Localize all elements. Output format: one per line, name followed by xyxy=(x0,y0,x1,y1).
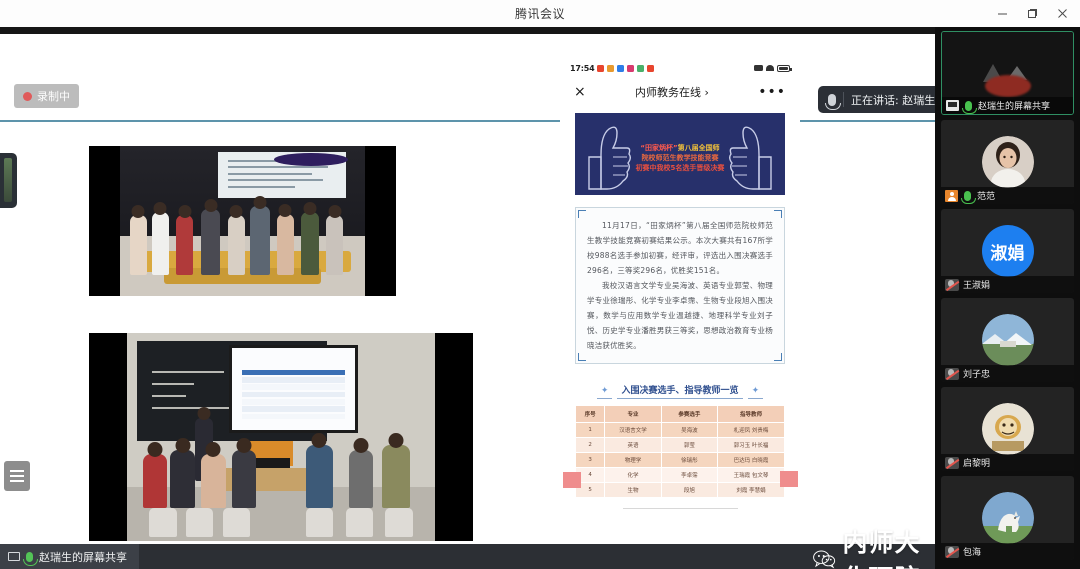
participant-name: 赵瑞生的屏幕共享 xyxy=(978,99,1050,112)
row-highlight-bar-left xyxy=(563,472,581,488)
article-banner: “田家炳杯”第八届全国师 院校师范生教学技能竞赛 初赛中我校5名选手晋级决赛 xyxy=(575,113,785,195)
row-highlight-bar-right xyxy=(780,471,798,487)
wechat-account-title[interactable]: 内师教务在线 › xyxy=(586,84,758,100)
cell-major: 汉语言文学 xyxy=(605,423,661,438)
screen-share-icon xyxy=(946,100,959,111)
phone-status-bar: 17:54 xyxy=(560,59,800,77)
cell-major: 化学 xyxy=(605,468,661,483)
bottom-share-bar: 赵瑞生的屏幕共享 xyxy=(0,544,935,569)
tile-footer: 包海 xyxy=(941,543,1074,560)
banner-line1: 第八届全国师 xyxy=(678,144,720,152)
tile-footer: 王淑娟 xyxy=(941,276,1074,293)
stage-divider-left xyxy=(0,120,560,122)
signal-icon xyxy=(754,65,763,71)
list-menu-icon[interactable] xyxy=(4,461,30,491)
cell-teachers: 王瑞霞 包文琴 xyxy=(718,468,785,483)
sparkle-icon-left: ✦ xyxy=(597,386,613,399)
slide-photo-classroom-group xyxy=(89,146,396,296)
table-header-row: 序号 专业 参赛选手 指导教师 xyxy=(576,406,785,423)
phone-screen-mirror: 17:54 × 内师教务在线 › ••• xyxy=(560,59,800,569)
tile-footer: 刘子忠 xyxy=(941,365,1074,382)
banner-line3: 初赛中我校5名选手晋级决赛 xyxy=(615,163,745,173)
cell-no: 1 xyxy=(576,423,605,438)
title-bar: 腾讯会议 xyxy=(0,0,1080,27)
participant-name: 包海 xyxy=(963,545,981,558)
participant-name: 王淑娟 xyxy=(963,278,990,291)
red-blob xyxy=(985,75,1031,97)
shared-screen-stage: 录制中 xyxy=(0,27,935,569)
wifi-icon xyxy=(766,65,774,71)
participant-tile-wangshujuan[interactable]: 淑娟 王淑娟 xyxy=(941,209,1074,293)
avatar xyxy=(982,403,1034,455)
th-student: 参赛选手 xyxy=(661,406,717,423)
article-paragraph-1: 11月17日，“田家炳杯”第八届全国师范院校师范生教学技能竞赛初赛结果公示。本次… xyxy=(587,218,773,278)
cell-student: 段旭 xyxy=(661,483,717,498)
finalists-table-body: 序号 专业 参赛选手 指导教师 1 汉语言文学 吴海波 札迎凤 刘贵梅 2 英语 xyxy=(576,406,785,498)
table-bottom-rule xyxy=(623,508,738,509)
microphone-icon xyxy=(828,94,836,106)
avatar xyxy=(982,492,1034,544)
share-status-pill: 赵瑞生的屏幕共享 xyxy=(0,544,139,569)
th-no: 序号 xyxy=(576,406,605,423)
status-app-icon-5 xyxy=(637,65,644,72)
cell-student: 郭莹 xyxy=(661,438,717,453)
microphone-muted-icon xyxy=(945,546,959,558)
corner-mark-tl xyxy=(578,210,586,218)
banner-line2: 院校师范生教学技能竞赛 xyxy=(615,153,745,163)
microphone-icon xyxy=(965,101,972,111)
microphone-muted-icon xyxy=(945,368,959,380)
participants-rail[interactable]: 赵瑞生的屏幕共享 xyxy=(935,27,1080,569)
status-time: 17:54 xyxy=(570,64,594,73)
cell-teachers: 札迎凤 刘贵梅 xyxy=(718,423,785,438)
table-row: 5 生物 段旭 刘霞 李慧娟 xyxy=(576,483,785,498)
participant-name: 启黎明 xyxy=(963,456,990,469)
cell-no: 4 xyxy=(576,468,605,483)
wechat-article-nav: × 内师教务在线 › ••• xyxy=(560,77,800,107)
cell-teachers: 刘霞 李慧娟 xyxy=(718,483,785,498)
tile-footer: 范范 xyxy=(941,187,1074,204)
cell-student: 李卓霈 xyxy=(661,468,717,483)
cell-no: 3 xyxy=(576,453,605,468)
corner-mark-bl xyxy=(578,353,586,361)
cell-major: 生物 xyxy=(605,483,661,498)
microphone-icon xyxy=(26,552,33,562)
status-app-icon-3 xyxy=(617,65,624,72)
divider xyxy=(843,92,844,107)
active-speaker-pill: 正在讲话: 赵瑞生; xyxy=(818,86,935,113)
th-teacher: 指导教师 xyxy=(718,406,785,423)
tencent-meeting-window: 腾讯会议 录制中 xyxy=(0,0,1080,569)
avatar-initial: 淑娟 xyxy=(982,225,1034,277)
cell-teachers: 巴达玛 白晓霞 xyxy=(718,453,785,468)
participant-tile-screen-share[interactable]: 赵瑞生的屏幕共享 xyxy=(941,31,1074,115)
microphone-muted-icon xyxy=(945,457,959,469)
avatar xyxy=(982,136,1034,188)
stage-divider-right xyxy=(800,120,935,122)
table-row: 2 英语 郭莹 郭习玉 叶长福 xyxy=(576,438,785,453)
wechat-logo-icon xyxy=(813,544,836,569)
status-app-icon-1 xyxy=(597,65,604,72)
sparkle-icon-right: ✦ xyxy=(748,386,764,399)
close-icon[interactable] xyxy=(1048,2,1076,26)
finalists-table: 序号 专业 参赛选手 指导教师 1 汉语言文学 吴海波 札迎凤 刘贵梅 2 英语 xyxy=(575,405,785,498)
cell-student: 吴海波 xyxy=(661,423,717,438)
table-row: 3 物理学 徐瑞彤 巴达玛 白晓霞 xyxy=(576,453,785,468)
participant-name: 刘子忠 xyxy=(963,367,990,380)
corner-mark-tr xyxy=(774,210,782,218)
window-controls xyxy=(988,0,1076,27)
table-row-highlighted: 4 化学 李卓霈 王瑞霞 包文琴 xyxy=(576,468,785,483)
more-icon[interactable]: ••• xyxy=(758,85,786,99)
cell-major: 英语 xyxy=(605,438,661,453)
maximize-icon[interactable] xyxy=(1018,2,1046,26)
cell-no: 2 xyxy=(576,438,605,453)
table-title: 入围决赛选手、指导教师一览 xyxy=(617,386,742,399)
participant-tile-baohai[interactable]: 包海 xyxy=(941,476,1074,560)
minimize-icon[interactable] xyxy=(988,2,1016,26)
banner-line1-quote: “田家炳杯” xyxy=(640,144,677,152)
battery-icon xyxy=(777,65,790,72)
microphone-muted-icon xyxy=(945,279,959,291)
left-edge-chip xyxy=(0,153,17,208)
participant-tile-liuzizhong[interactable]: 刘子忠 xyxy=(941,298,1074,382)
slide-photo-classroom-lecture xyxy=(89,333,473,541)
participant-name: 范范 xyxy=(977,189,995,202)
close-icon[interactable]: × xyxy=(574,85,586,99)
host-badge-icon xyxy=(945,190,958,202)
article-paragraph-2: 我校汉语言文学专业吴海波、英语专业郭莹、物理学专业徐瑞彤、化学专业李卓霈、生物专… xyxy=(587,278,773,353)
microphone-icon xyxy=(964,191,971,201)
corner-mark-br xyxy=(774,353,782,361)
screen-share-icon xyxy=(8,552,20,561)
wechat-watermark: 内师大化环院 xyxy=(813,523,935,569)
share-status-label: 赵瑞生的屏幕共享 xyxy=(39,549,127,565)
recording-badge: 录制中 xyxy=(14,84,79,108)
recording-label: 录制中 xyxy=(37,88,70,104)
cell-teachers: 郭习玉 叶长福 xyxy=(718,438,785,453)
cell-major: 物理学 xyxy=(605,453,661,468)
avatar xyxy=(982,314,1034,366)
banner-headline: “田家炳杯”第八届全国师 院校师范生教学技能竞赛 初赛中我校5名选手晋级决赛 xyxy=(615,143,745,173)
app-title: 腾讯会议 xyxy=(0,5,1080,22)
participant-tile-qiliming[interactable]: 启黎明 xyxy=(941,387,1074,471)
table-title-row: ✦ 入围决赛选手、指导教师一览 ✦ xyxy=(560,378,800,397)
tile-footer: 启黎明 xyxy=(941,454,1074,471)
article-text-box: 11月17日，“田家炳杯”第八届全国师范院校师范生教学技能竞赛初赛结果公示。本次… xyxy=(575,207,785,364)
table-row: 1 汉语言文学 吴海波 札迎凤 刘贵梅 xyxy=(576,423,785,438)
stage-top-strip xyxy=(0,27,935,34)
watermark-text: 内师大化环院 xyxy=(843,523,935,569)
active-speaker-label: 正在讲话: 赵瑞生; xyxy=(851,92,935,108)
participant-tile-fanfan[interactable]: 范范 xyxy=(941,120,1074,204)
status-app-icon-4 xyxy=(627,65,634,72)
cell-student: 徐瑞彤 xyxy=(661,453,717,468)
status-app-icon-2 xyxy=(607,65,614,72)
th-major: 专业 xyxy=(605,406,661,423)
tile-footer: 赵瑞生的屏幕共享 xyxy=(942,97,1073,114)
status-app-icon-6 xyxy=(647,65,654,72)
recording-dot-icon xyxy=(23,92,32,101)
